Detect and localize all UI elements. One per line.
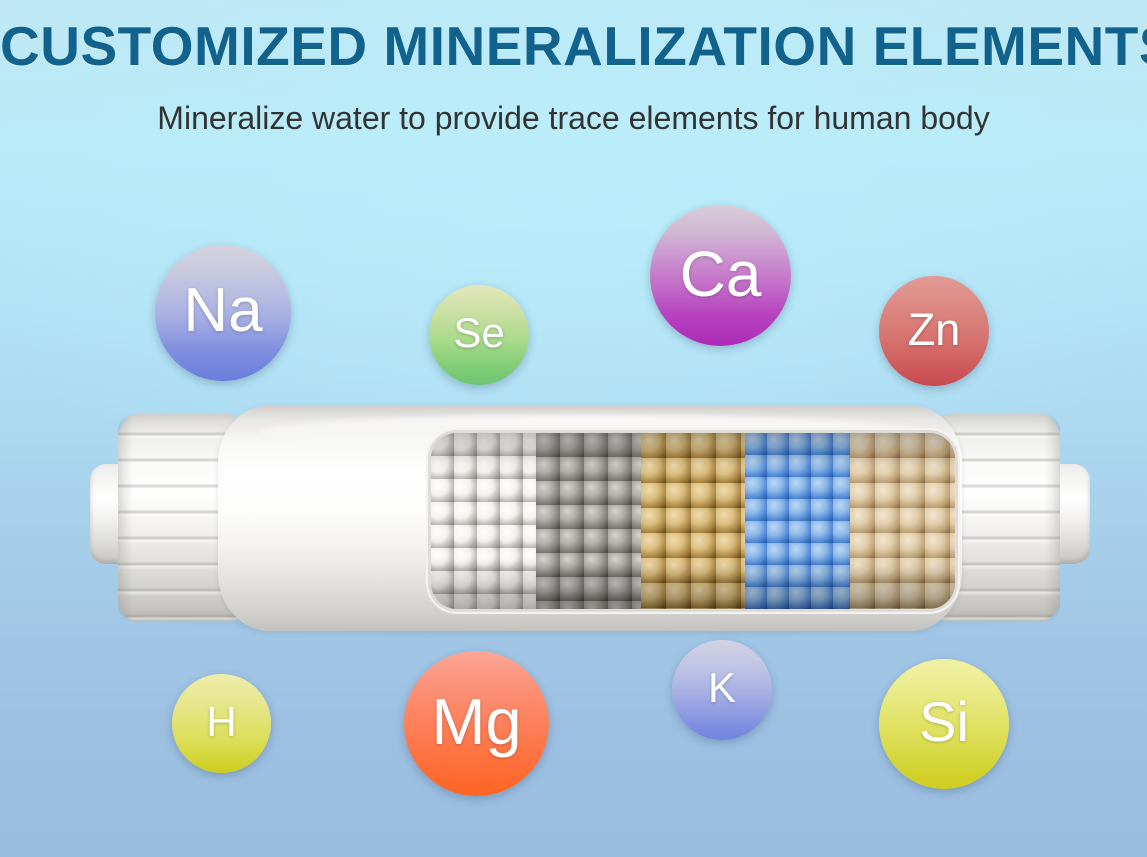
filter-cartridge xyxy=(90,400,1090,645)
media-band-grey-mineral xyxy=(536,433,641,609)
header: CUSTOMIZED MINERALIZATION ELEMENTS Miner… xyxy=(0,0,1147,137)
element-symbol-na: Na xyxy=(183,280,262,342)
media-band-gold-tourmaline xyxy=(641,433,746,609)
element-bubble-na: Na xyxy=(155,245,291,381)
element-symbol-k: K xyxy=(708,667,736,709)
element-symbol-mg: Mg xyxy=(431,689,521,754)
media-band-beige-maifan xyxy=(850,433,955,609)
cartridge-body xyxy=(218,405,962,631)
element-bubble-zn: Zn xyxy=(879,276,989,386)
mineralization-elements-banner: CUSTOMIZED MINERALIZATION ELEMENTS Miner… xyxy=(0,0,1147,857)
element-symbol-ca: Ca xyxy=(680,242,762,306)
element-bubble-h: H xyxy=(172,674,271,773)
element-bubble-se: Se xyxy=(429,285,529,385)
media-band-blue-mineral xyxy=(745,433,850,609)
page-title: CUSTOMIZED MINERALIZATION ELEMENTS xyxy=(0,0,1147,78)
media-band-white-ceramic xyxy=(431,433,536,609)
element-symbol-zn: Zn xyxy=(908,307,961,352)
element-bubble-mg: Mg xyxy=(404,651,549,796)
element-bubble-k: K xyxy=(672,640,772,740)
element-symbol-h: H xyxy=(206,701,236,743)
element-symbol-si: Si xyxy=(919,694,969,750)
page-subtitle: Mineralize water to provide trace elemen… xyxy=(0,78,1147,137)
cartridge-view-window xyxy=(431,433,955,609)
element-bubble-ca: Ca xyxy=(650,205,791,346)
element-bubble-si: Si xyxy=(879,659,1009,789)
element-symbol-se: Se xyxy=(453,312,504,354)
